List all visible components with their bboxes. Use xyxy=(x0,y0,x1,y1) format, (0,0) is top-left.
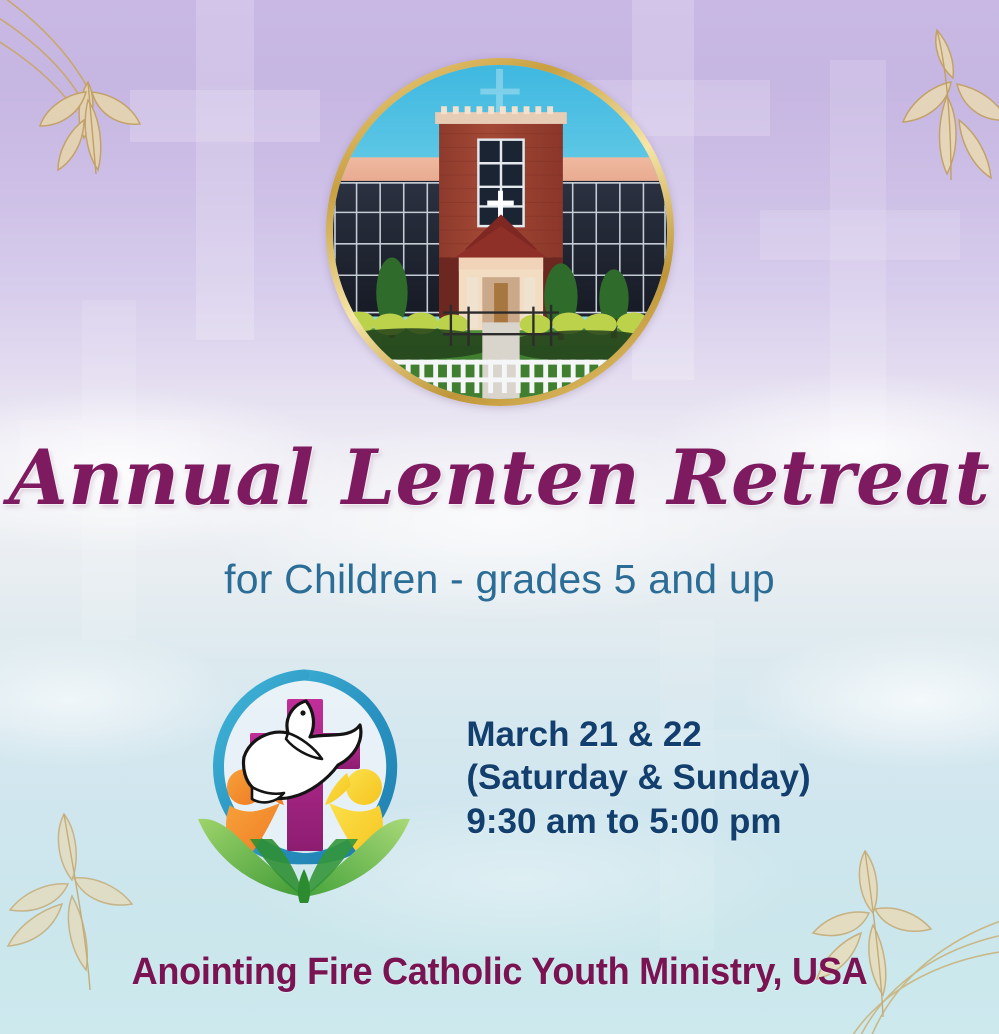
church-photo-frame xyxy=(326,58,674,406)
retreat-poster: Annual Lenten Retreat for Children - gra… xyxy=(0,0,999,1034)
event-date: March 21 & 22 xyxy=(466,713,810,756)
event-schedule: March 21 & 22 (Saturday & Sunday) 9:30 a… xyxy=(466,713,810,843)
church-photo xyxy=(333,65,667,399)
page-subtitle: for Children - grades 5 and up xyxy=(0,556,999,603)
event-time: 9:30 am to 5:00 pm xyxy=(466,800,810,843)
gold-leaf-ornament-top-right xyxy=(819,0,999,230)
watermark-cross xyxy=(760,60,960,460)
ministry-logo xyxy=(188,653,420,903)
event-days: (Saturday & Sunday) xyxy=(466,756,810,799)
gold-leaf-ornament-top-left xyxy=(0,0,220,200)
logo-and-schedule-row: March 21 & 22 (Saturday & Sunday) 9:30 a… xyxy=(0,648,999,908)
page-title: Annual Lenten Retreat xyxy=(0,440,999,516)
watermark-cross xyxy=(130,0,320,340)
organization-name: Anointing Fire Catholic Youth Ministry, … xyxy=(25,951,974,994)
